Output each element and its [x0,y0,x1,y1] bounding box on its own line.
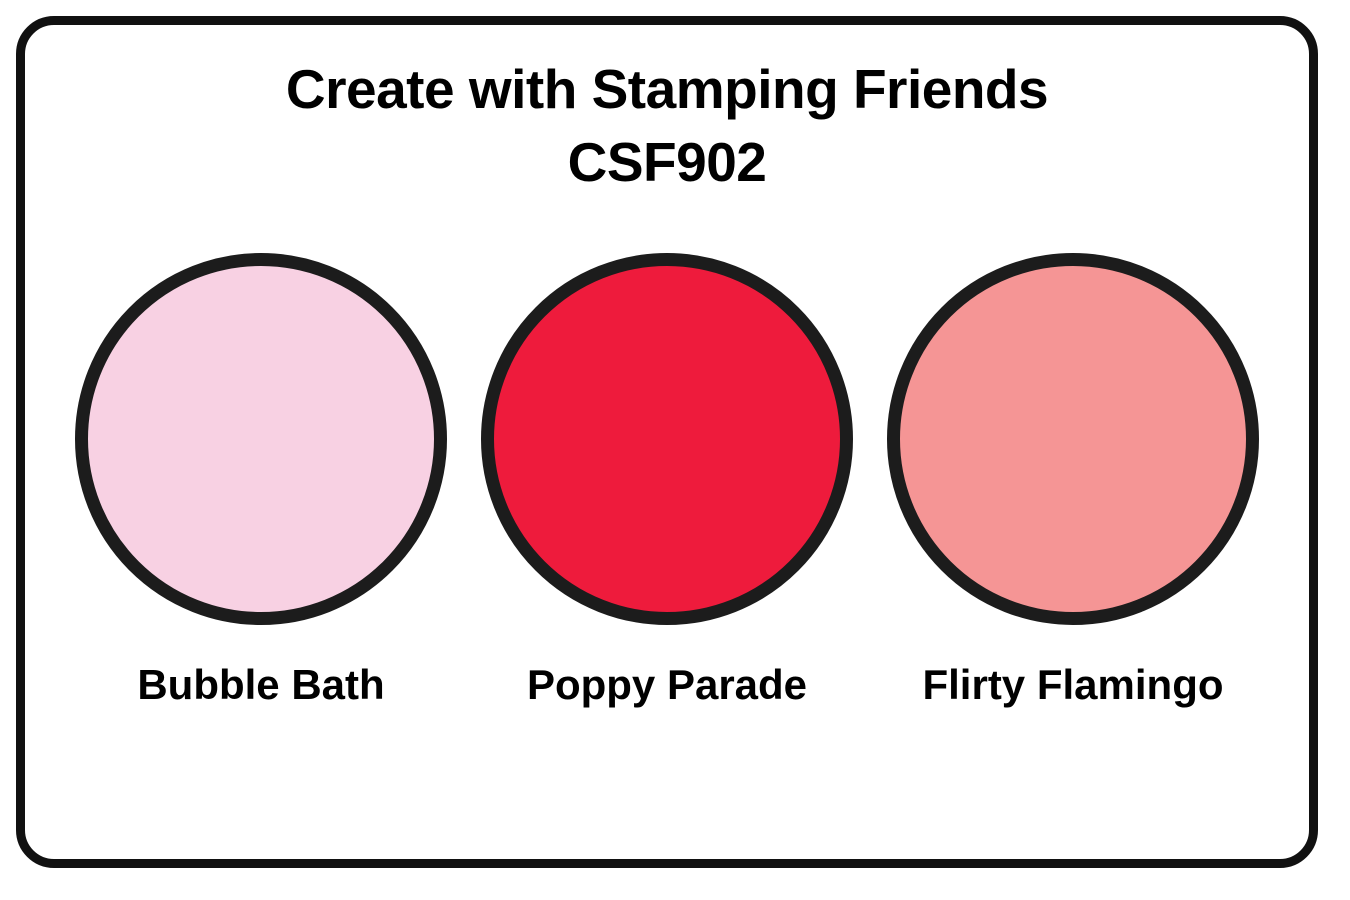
color-label-flirty-flamingo: Flirty Flamingo [922,651,1223,719]
color-swatch-flirty-flamingo: Flirty Flamingo [887,253,1259,719]
color-label-bubble-bath: Bubble Bath [137,651,384,719]
color-swatch-bubble-bath: Bubble Bath [75,253,447,719]
color-swatch-row: Bubble Bath Poppy Parade Flirty Flamingo [25,253,1309,719]
color-label-poppy-parade: Poppy Parade [527,651,807,719]
color-circle-poppy-parade [481,253,853,625]
color-circle-flirty-flamingo [887,253,1259,625]
color-circle-bubble-bath [75,253,447,625]
page-title-line-2: CSF902 [25,126,1309,199]
page-title-line-1: Create with Stamping Friends [25,53,1309,126]
title-block: Create with Stamping Friends CSF902 [25,53,1309,198]
color-swatch-poppy-parade: Poppy Parade [481,253,853,719]
color-palette-card: Create with Stamping Friends CSF902 Bubb… [16,16,1318,868]
